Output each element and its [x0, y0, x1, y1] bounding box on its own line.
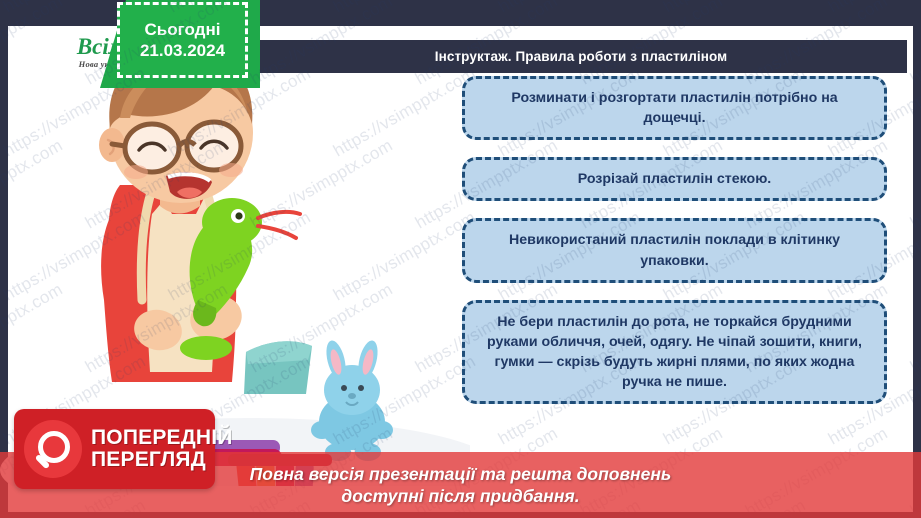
rule-box: Розрізай пластилін стекою. — [462, 157, 887, 201]
watermark-text: https://vsimpptx.com — [495, 0, 644, 17]
date-badge-label: Сьогодні — [145, 21, 221, 39]
preview-badge-text: ПОПЕРЕДНІЙ ПЕРЕГЛЯД — [91, 427, 233, 472]
watermark-text: https://vsimpptx.com — [660, 0, 809, 17]
purchase-banner-line2: доступні після придбання. — [341, 485, 579, 507]
preview-badge: ПОПЕРЕДНІЙ ПЕРЕГЛЯД — [14, 409, 215, 489]
rule-box: Розминати і розгортати пластилін потрібн… — [462, 76, 887, 140]
rule-box: Невикористаний пластилін поклади в кліти… — [462, 218, 887, 282]
rules-list: Розминати і розгортати пластилін потрібн… — [462, 76, 887, 404]
watermark-text: https://vsimpptx.com — [825, 0, 921, 17]
slide-root: Всім.pptx Нова українська школа Сьогодні… — [0, 0, 921, 518]
slide-title: Інструктаж. Правила роботи з пластиліном — [435, 49, 728, 64]
magnifier-icon — [24, 420, 82, 478]
purchase-banner-line1: Повна версія презентації та решта доповн… — [250, 463, 672, 485]
date-badge-value: 21.03.2024 — [140, 42, 225, 60]
preview-badge-line2: ПЕРЕГЛЯД — [91, 449, 233, 471]
rule-box: Не бери пластилін до рота, не торкайся б… — [462, 300, 887, 405]
slide-title-bar: Інструктаж. Правила роботи з пластиліном — [255, 40, 907, 73]
preview-badge-line1: ПОПЕРЕДНІЙ — [91, 427, 233, 449]
date-badge: Сьогодні 21.03.2024 — [117, 2, 248, 78]
